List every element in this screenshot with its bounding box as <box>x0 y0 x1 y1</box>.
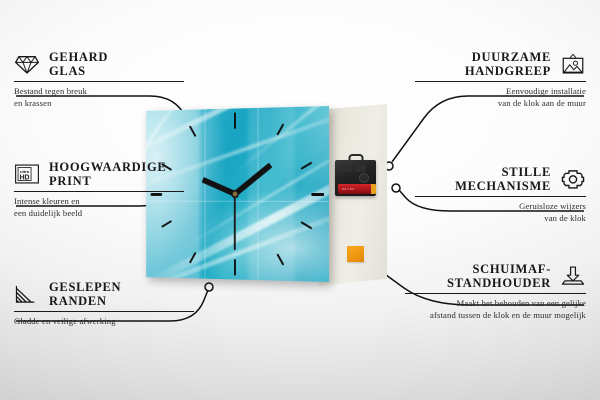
battery: AA 1.5V <box>338 184 373 194</box>
callout-title-line2: PRINT <box>49 174 166 188</box>
foam-standoff-side <box>364 247 368 262</box>
callout-geslepen-randen: GESLEPEN RANDEN Gladde en veilige afwerk… <box>14 280 194 328</box>
picture-frame-icon <box>560 53 586 75</box>
callout-divider <box>14 311 194 312</box>
svg-text:ultra: ultra <box>20 169 30 174</box>
callout-desc-line1: Gladde en veilige afwerking <box>14 316 194 327</box>
callout-title-line1: GESLEPEN <box>49 280 121 294</box>
mechanism-body: AA 1.5V <box>335 160 376 196</box>
callout-desc-line1: Maakt het behouden van een gelijke <box>405 298 586 309</box>
callout-desc-line1: Geruisloze wijzers <box>415 201 586 212</box>
battery-terminal <box>371 184 376 194</box>
callout-title-line1: SCHUIMAF- <box>447 262 551 276</box>
callout-title-line2: RANDEN <box>49 294 121 308</box>
beveled-edge-icon <box>14 283 40 305</box>
svg-text:HD: HD <box>20 174 30 181</box>
callout-schuimaf-standhouder: SCHUIMAF- STANDHOUDER Maakt het behouden… <box>405 262 586 321</box>
battery-label: AA 1.5V <box>342 187 354 191</box>
down-arrow-pad-icon <box>560 265 586 287</box>
second-hand <box>234 190 235 250</box>
callout-desc-line1: Intense kleuren en <box>14 196 184 207</box>
callout-divider <box>415 81 586 82</box>
mechanism-slot-right <box>355 165 366 172</box>
callout-desc-line2: en krassen <box>14 98 184 109</box>
clock-mechanism: AA 1.5V <box>335 160 376 196</box>
callout-gehard-glas: GEHARD GLAS Bestand tegen breuk en krass… <box>14 50 184 109</box>
callout-divider <box>14 81 184 82</box>
callout-divider <box>405 293 586 294</box>
callout-desc-line2: van de klok <box>415 213 586 224</box>
callout-desc-line2: van de klok aan de muur <box>415 98 586 109</box>
callout-divider <box>14 191 184 192</box>
callout-duurzame-handgreep: DUURZAME HANDGREEP Eenvoudige installati… <box>415 50 586 109</box>
callout-desc-line1: Bestand tegen breuk <box>14 86 184 97</box>
callout-hoogwaardige-print: ultra HD HOOGWAARDIGE PRINT Intense kleu… <box>14 160 184 219</box>
callout-title-line1: STILLE <box>455 165 551 179</box>
ultra-hd-icon: ultra HD <box>14 163 40 185</box>
callout-title-line2: GLAS <box>49 64 108 78</box>
callout-stille-mechanisme: STILLE MECHANISME Geruisloze wijzers van… <box>415 165 586 224</box>
gear-icon <box>560 168 586 190</box>
callout-title-line2: MECHANISME <box>455 179 551 193</box>
callout-title-line2: STANDHOUDER <box>447 276 551 290</box>
callout-title-line1: HOOGWAARDIGE <box>49 160 166 174</box>
mechanism-slot-left <box>340 165 352 172</box>
callout-desc-line2: afstand tussen de klok en de muur mogeli… <box>405 310 586 321</box>
callout-desc-line2: een duidelijk beeld <box>14 208 184 219</box>
callout-title-line2: HANDGREEP <box>465 64 551 78</box>
diamond-icon <box>14 53 40 75</box>
infographic-stage: AA 1.5V <box>0 0 600 400</box>
hands-center-cap <box>233 192 238 197</box>
mechanism-dial <box>359 173 369 183</box>
foam-standoff <box>347 246 364 262</box>
callout-title-line1: DUURZAME <box>465 50 551 64</box>
callout-title-line1: GEHARD <box>49 50 108 64</box>
callout-desc-line1: Eenvoudige installatie <box>415 86 586 97</box>
callout-divider <box>415 196 586 197</box>
